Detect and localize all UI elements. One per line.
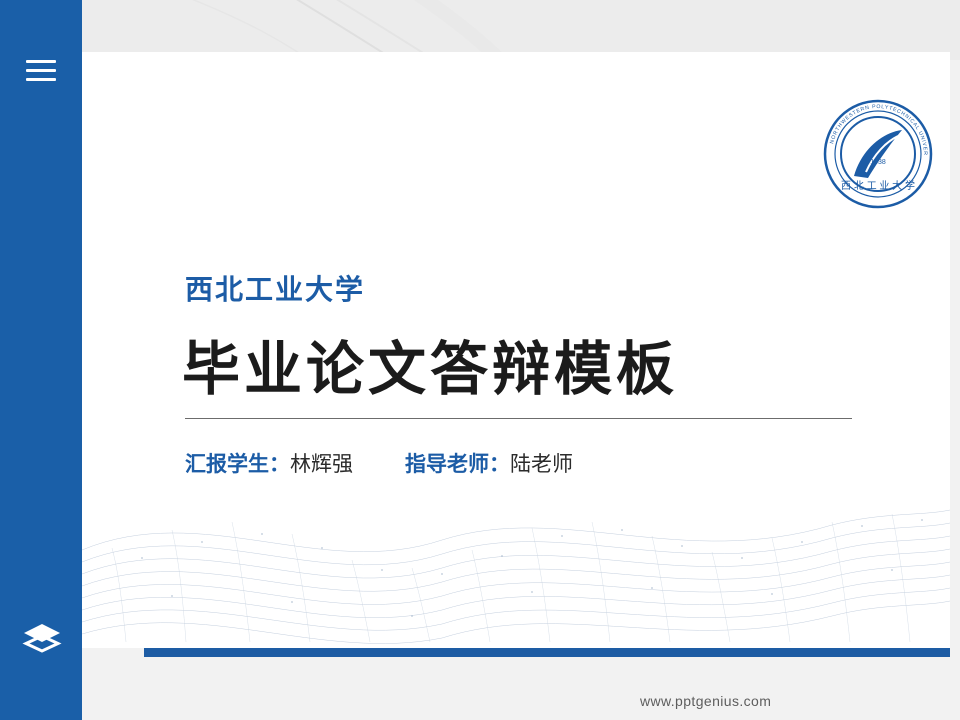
menu-bar-2 [26, 69, 56, 72]
page-title: 毕业论文答辩模板 [182, 322, 678, 406]
mesh-wave-decoration [82, 430, 950, 650]
university-emblem-icon: NORTHWESTERN POLYTECHNICAL UNIVERSITY 西 … [822, 98, 934, 210]
left-sidebar-rail [0, 0, 82, 720]
menu-bar-3 [26, 78, 56, 81]
menu-bar-1 [26, 60, 56, 63]
university-name: 西北工业大学 [185, 268, 365, 308]
slide-canvas: NORTHWESTERN POLYTECHNICAL UNIVERSITY 西 … [82, 0, 960, 720]
svg-text:1938: 1938 [870, 159, 886, 166]
title-divider [185, 418, 852, 419]
layers-stack-icon[interactable] [20, 616, 64, 660]
hamburger-menu-icon[interactable] [26, 60, 56, 84]
svg-text:西 北 工 业 大 学: 西 北 工 业 大 学 [841, 179, 915, 192]
presentation-viewer: NORTHWESTERN POLYTECHNICAL UNIVERSITY 西 … [0, 0, 960, 720]
footer-url[interactable]: www.pptgenius.com [640, 693, 771, 709]
